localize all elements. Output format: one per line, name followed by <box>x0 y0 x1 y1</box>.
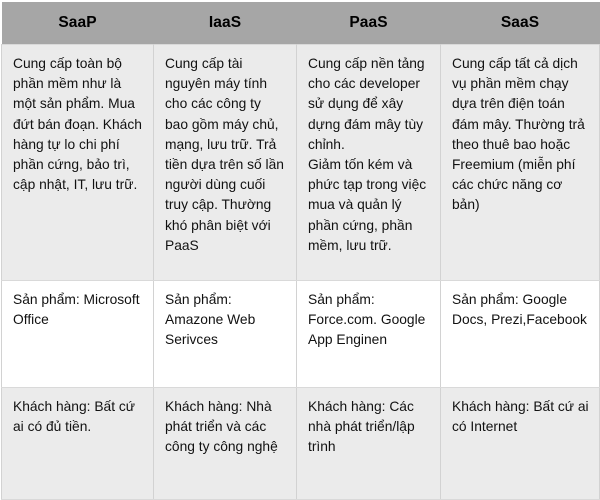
cell-text: Sản phẩm: Microsoft Office <box>13 290 143 330</box>
cell-text: Khách hàng: Bất cứ ai có đủ tiền. <box>13 397 143 437</box>
cell-text: Cung cấp nền tảng cho các developer sử d… <box>308 54 430 256</box>
cell-product-iaas: Sản phẩm: Amazone Web Serivces <box>154 281 297 388</box>
column-header-saap: SaaP <box>2 2 154 45</box>
cell-description-paas: Cung cấp nền tảng cho các developer sử d… <box>297 45 441 281</box>
table-body: Cung cấp toàn bộ phần mềm như là một sản… <box>2 45 600 500</box>
table-row-description: Cung cấp toàn bộ phần mềm như là một sản… <box>2 45 600 281</box>
cell-description-saap: Cung cấp toàn bộ phần mềm như là một sản… <box>2 45 154 281</box>
column-header-paas: PaaS <box>297 2 441 45</box>
cell-text: Sản phẩm: Amazone Web Serivces <box>165 290 286 351</box>
table-header-row: SaaP IaaS PaaS SaaS <box>2 2 600 45</box>
cell-product-saas: Sản phẩm: Google Docs, Prezi,Facebook <box>441 281 600 388</box>
cell-text: Khách hàng: Các nhà phát triển/lập trình <box>308 397 430 458</box>
cell-text: Khách hàng: Bất cứ ai có Internet <box>452 397 589 437</box>
cell-text: Cung cấp toàn bộ phần mềm như là một sản… <box>13 54 143 195</box>
cell-description-iaas: Cung cấp tài nguyên máy tính cho các côn… <box>154 45 297 281</box>
cell-product-saap: Sản phẩm: Microsoft Office <box>2 281 154 388</box>
table-header: SaaP IaaS PaaS SaaS <box>2 2 600 45</box>
cell-description-saas: Cung cấp tất cả dịch vụ phần mềm chạy dự… <box>441 45 600 281</box>
comparison-table-container: SaaP IaaS PaaS SaaS Cung cấp toàn bộ phầ… <box>0 0 600 444</box>
cell-text: Cung cấp tài nguyên máy tính cho các côn… <box>165 54 286 256</box>
table-row-product: Sản phẩm: Microsoft Office Sản phẩm: Ama… <box>2 281 600 388</box>
cell-text: Khách hàng: Nhà phát triển và các công t… <box>165 397 286 458</box>
cell-text: Cung cấp tất cả dịch vụ phần mềm chạy dự… <box>452 54 589 216</box>
cell-product-paas: Sản phẩm: Force.com. Google App Enginen <box>297 281 441 388</box>
column-header-saas: SaaS <box>441 2 600 45</box>
cell-text: Sản phẩm: Force.com. Google App Enginen <box>308 290 430 351</box>
cell-text: Sản phẩm: Google Docs, Prezi,Facebook <box>452 290 589 330</box>
column-header-iaas: IaaS <box>154 2 297 45</box>
cloud-service-models-comparison-table: SaaP IaaS PaaS SaaS Cung cấp toàn bộ phầ… <box>1 2 600 500</box>
